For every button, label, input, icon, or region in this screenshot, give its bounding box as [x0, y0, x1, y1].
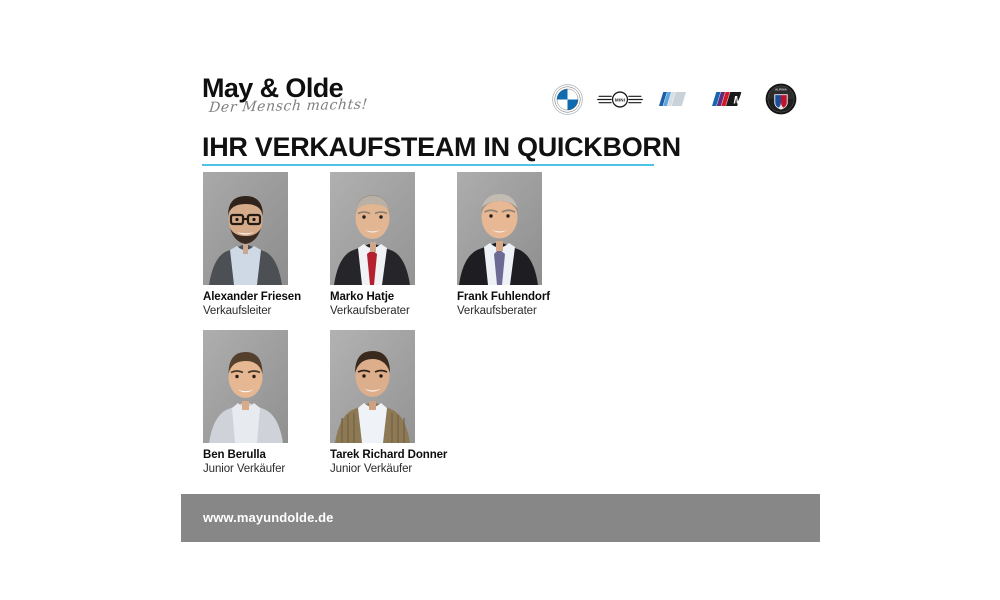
svg-text:ALPINA: ALPINA — [775, 88, 787, 92]
website-url[interactable]: www.mayundolde.de — [203, 510, 334, 525]
footer-bar: www.mayundolde.de — [181, 494, 820, 542]
dealer-logo: May & Olde Der Mensch machts! — [202, 74, 368, 116]
team-member-card: Alexander Friesen Verkaufsleiter — [203, 172, 288, 318]
portrait-tarek-richard-donner — [330, 330, 415, 443]
member-role: Verkaufsleiter — [203, 304, 288, 318]
member-name: Alexander Friesen — [203, 291, 288, 304]
dealer-team-poster: May & Olde Der Mensch machts! — [0, 0, 1000, 600]
page-title-block: IHR VERKAUFSTEAM IN QUICKBORN — [202, 133, 662, 166]
member-name: Ben Berulla — [203, 449, 288, 462]
portrait-ben-berulla — [203, 330, 288, 443]
member-role: Junior Verkäufer — [203, 462, 288, 476]
mini-logo: MINI — [597, 89, 643, 110]
member-name: Frank Fuhlendorf — [457, 291, 542, 304]
portrait-alexander-friesen — [203, 172, 288, 285]
member-name: Marko Hatje — [330, 291, 415, 304]
poster-header: May & Olde Der Mensch machts! — [202, 74, 802, 126]
brand-logo-row: MINI i — [552, 78, 797, 120]
bmw-logo — [552, 84, 583, 115]
member-role: Verkaufsberater — [330, 304, 415, 318]
portrait-frank-fuhlendorf — [457, 172, 542, 285]
dealer-tagline: Der Mensch machts! — [208, 98, 368, 116]
team-member-card: Ben Berulla Junior Verkäufer — [203, 330, 288, 476]
alpina-logo: ALPINA — [765, 83, 797, 115]
team-row: Ben Berulla Junior Verkäufer — [203, 330, 823, 476]
team-member-card: Frank Fuhlendorf Verkaufsberater — [457, 172, 542, 318]
member-role: Junior Verkäufer — [330, 462, 415, 476]
member-role: Verkaufsberater — [457, 304, 542, 318]
team-member-card: Tarek Richard Donner Junior Verkäufer — [330, 330, 415, 476]
portrait-marko-hatje — [330, 172, 415, 285]
svg-text:M: M — [734, 95, 744, 107]
title-underline — [202, 164, 654, 166]
svg-text:MINI: MINI — [615, 97, 625, 102]
team-row: Alexander Friesen Verkaufsleiter — [203, 172, 823, 318]
svg-text:i: i — [683, 94, 687, 106]
team-member-card: Marko Hatje Verkaufsberater — [330, 172, 415, 318]
member-name: Tarek Richard Donner — [330, 449, 415, 462]
team-grid: Alexander Friesen Verkaufsleiter — [203, 172, 823, 488]
page-title: IHR VERKAUFSTEAM IN QUICKBORN — [202, 133, 662, 162]
bmw-i-logo: i — [657, 91, 697, 107]
bmw-m-logo: M — [711, 91, 751, 107]
